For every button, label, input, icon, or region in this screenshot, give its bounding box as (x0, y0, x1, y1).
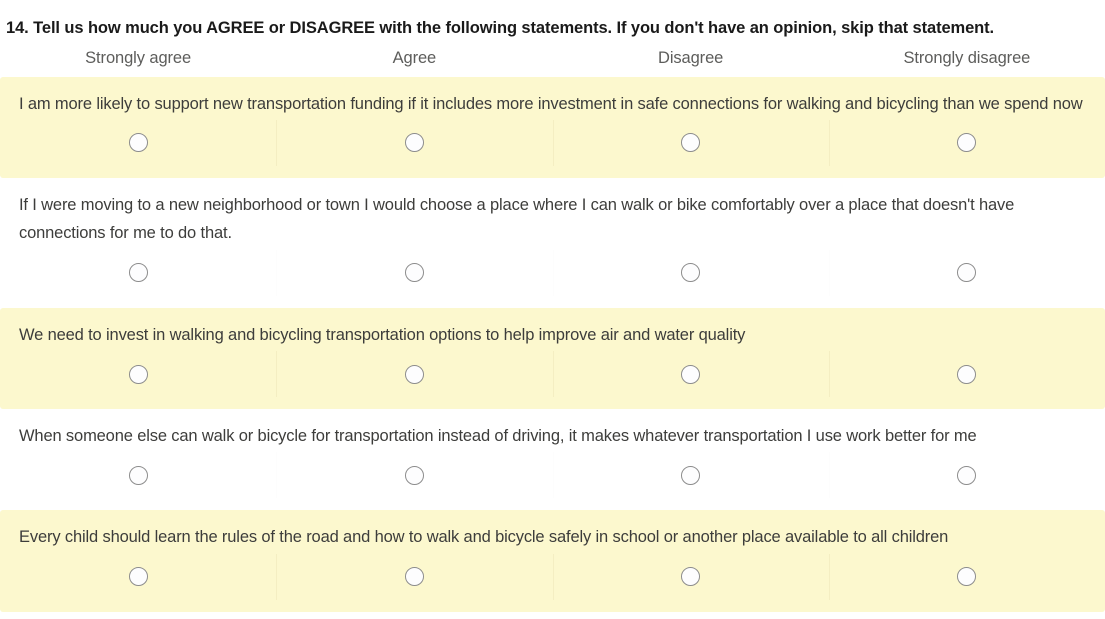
radio-4-disagree[interactable] (681, 466, 700, 485)
radio-5-agree[interactable] (405, 567, 424, 586)
radio-2-strongly-agree[interactable] (129, 263, 148, 282)
option-cell-2-strongly-disagree[interactable] (829, 250, 1105, 296)
radio-2-strongly-disagree[interactable] (957, 263, 976, 282)
option-cell-3-agree[interactable] (276, 351, 552, 397)
radio-4-agree[interactable] (405, 466, 424, 485)
option-cell-3-disagree[interactable] (553, 351, 829, 397)
statement-text-3: We need to invest in walking and bicycli… (0, 308, 1105, 349)
option-cell-4-strongly-disagree[interactable] (829, 452, 1105, 498)
statement-row-3: We need to invest in walking and bicycli… (0, 308, 1105, 409)
radio-3-disagree[interactable] (681, 365, 700, 384)
scale-header-agree: Agree (276, 49, 552, 69)
option-cell-4-disagree[interactable] (553, 452, 829, 498)
option-cell-3-strongly-agree[interactable] (0, 351, 276, 397)
scale-header-row: Strongly agree Agree Disagree Strongly d… (0, 39, 1105, 77)
option-cell-2-disagree[interactable] (553, 250, 829, 296)
options-row-1 (0, 120, 1105, 166)
scale-header-strongly-agree: Strongly agree (0, 49, 276, 69)
statement-text-1: I am more likely to support new transpor… (0, 77, 1105, 118)
radio-5-disagree[interactable] (681, 567, 700, 586)
statement-row-1: I am more likely to support new transpor… (0, 77, 1105, 178)
radio-2-disagree[interactable] (681, 263, 700, 282)
statement-row-2: If I were moving to a new neighborhood o… (0, 178, 1105, 308)
option-cell-1-strongly-disagree[interactable] (829, 120, 1105, 166)
scale-header-strongly-disagree: Strongly disagree (829, 49, 1105, 69)
options-row-4 (0, 452, 1105, 498)
scale-header-disagree: Disagree (553, 49, 829, 69)
radio-3-strongly-disagree[interactable] (957, 365, 976, 384)
option-cell-1-agree[interactable] (276, 120, 552, 166)
statement-text-4: When someone else can walk or bicycle fo… (0, 409, 1105, 450)
statement-row-5: Every child should learn the rules of th… (0, 510, 1105, 611)
option-cell-1-disagree[interactable] (553, 120, 829, 166)
radio-3-agree[interactable] (405, 365, 424, 384)
page-title: 14. Tell us how much you AGREE or DISAGR… (0, 0, 1105, 39)
options-row-5 (0, 554, 1105, 600)
radio-5-strongly-agree[interactable] (129, 567, 148, 586)
radio-2-agree[interactable] (405, 263, 424, 282)
radio-1-disagree[interactable] (681, 133, 700, 152)
survey-matrix-question: 14. Tell us how much you AGREE or DISAGR… (0, 0, 1105, 612)
option-cell-5-disagree[interactable] (553, 554, 829, 600)
option-cell-5-agree[interactable] (276, 554, 552, 600)
radio-1-strongly-agree[interactable] (129, 133, 148, 152)
statement-text-5: Every child should learn the rules of th… (0, 510, 1105, 551)
option-cell-5-strongly-agree[interactable] (0, 554, 276, 600)
options-row-3 (0, 351, 1105, 397)
radio-1-agree[interactable] (405, 133, 424, 152)
statement-text-2: If I were moving to a new neighborhood o… (0, 178, 1105, 248)
option-cell-3-strongly-disagree[interactable] (829, 351, 1105, 397)
option-cell-2-agree[interactable] (276, 250, 552, 296)
radio-3-strongly-agree[interactable] (129, 365, 148, 384)
radio-4-strongly-disagree[interactable] (957, 466, 976, 485)
option-cell-1-strongly-agree[interactable] (0, 120, 276, 166)
option-cell-2-strongly-agree[interactable] (0, 250, 276, 296)
option-cell-5-strongly-disagree[interactable] (829, 554, 1105, 600)
radio-5-strongly-disagree[interactable] (957, 567, 976, 586)
option-cell-4-strongly-agree[interactable] (0, 452, 276, 498)
radio-1-strongly-disagree[interactable] (957, 133, 976, 152)
statement-row-4: When someone else can walk or bicycle fo… (0, 409, 1105, 510)
radio-4-strongly-agree[interactable] (129, 466, 148, 485)
option-cell-4-agree[interactable] (276, 452, 552, 498)
options-row-2 (0, 250, 1105, 296)
